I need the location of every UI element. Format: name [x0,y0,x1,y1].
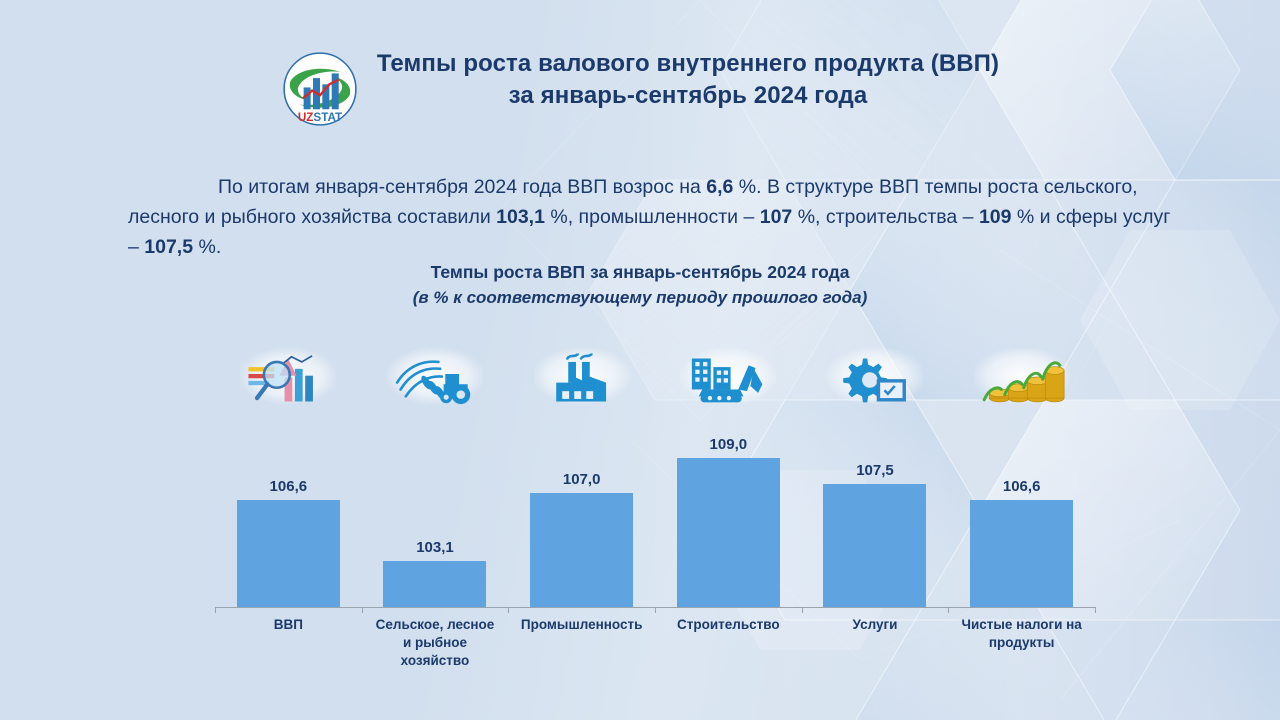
axis-tick [655,607,656,613]
bar-value-label: 106,6 [948,478,1095,495]
intro-value-industry: 107 [760,206,793,228]
bar-value-label: 106,6 [215,478,362,495]
intro-value-gdp: 6,6 [706,176,733,198]
category-label-line: хозяйство [362,652,509,670]
bar[interactable] [970,500,1073,607]
chart-subtitle: (в % к соответствующему периоду прошлого… [0,288,1280,308]
uzstat-logo: UZSTAT [281,50,359,128]
category-label-line: продукты [948,634,1095,652]
bar[interactable] [237,500,340,607]
axis-tick [215,607,216,613]
net-taxes-coins-icon [948,345,1095,407]
logo-text-stat: STAT [313,111,343,124]
services-gear-icon [802,345,949,407]
construction-excavator-icon [655,345,802,407]
bar[interactable] [677,458,780,607]
intro-text-4: %, строительства – [792,206,979,228]
axis-tick [1095,607,1096,613]
intro-text-1: По итогам января-сентября 2024 года ВВП … [218,176,706,198]
axis-tick [508,607,509,613]
intro-paragraph: По итогам января-сентября 2024 года ВВП … [128,172,1176,263]
bar-value-label: 109,0 [655,436,802,453]
category-label: Промышленность [508,616,655,634]
intro-text-6: %. [193,236,221,258]
category-label: Строительство [655,616,802,634]
bar-value-label: 103,1 [362,539,509,556]
header: UZSTAT Темпы роста валового внутреннего … [0,48,1280,128]
category-label-line: Сельское, лесное [362,616,509,634]
bar[interactable] [530,493,633,607]
chart-title: Темпы роста ВВП за январь-сентябрь 2024 … [0,262,1280,283]
bar-value-label: 107,5 [802,462,949,479]
category-label-line: ВВП [215,616,362,634]
industry-factory-icon [508,345,655,407]
intro-value-services: 107,5 [144,236,193,258]
svg-text:UZSTAT: UZSTAT [298,111,343,124]
intro-text-3: %, промышленности – [545,206,760,228]
category-label-line: и рыбное [362,634,509,652]
bar[interactable] [383,561,486,607]
agriculture-tractor-icon [362,345,509,407]
logo-text-uz: UZ [298,111,314,124]
category-label: Услуги [802,616,949,634]
axis-tick [802,607,803,613]
axis-tick [948,607,949,613]
category-label: Сельское, лесноеи рыбноехозяйство [362,616,509,671]
page-title: Темпы роста валового внутреннего продукт… [377,48,999,112]
category-label-line: Услуги [802,616,949,634]
bar[interactable] [823,484,926,607]
axis-tick [362,607,363,613]
category-label-line: Чистые налоги на [948,616,1095,634]
category-label-line: Промышленность [508,616,655,634]
bar-value-label: 107,0 [508,471,655,488]
page-title-line-2: за январь-сентябрь 2024 года [377,80,999,112]
category-label: Чистые налоги напродукты [948,616,1095,652]
category-label: ВВП [215,616,362,634]
intro-value-agriculture: 103,1 [496,206,545,228]
gdp-analytics-icon [215,345,362,407]
intro-value-construction: 109 [979,206,1012,228]
category-label-line: Строительство [655,616,802,634]
page-title-line-1: Темпы роста валового внутреннего продукт… [377,48,999,80]
